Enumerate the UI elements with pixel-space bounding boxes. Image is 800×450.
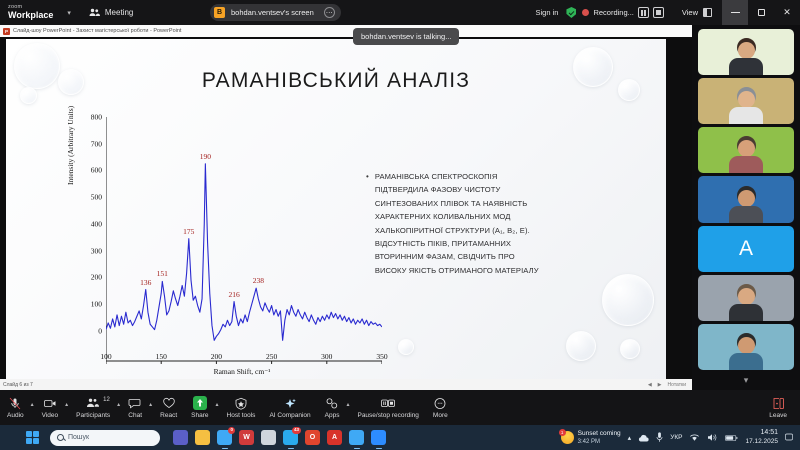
zoom-control-bar: Audio▴Video▴12Participants▴Chat▴ReactSha… — [0, 390, 800, 425]
notification-time: 3:42 PM — [578, 438, 621, 446]
app-running-indicator — [222, 448, 228, 450]
taskbar-app-chrome[interactable]: 0 — [217, 430, 232, 445]
bullet-line: СИНТЕЗОВАНИХ ПЛІВОК ТА НАЯВНІСТЬ — [375, 197, 539, 210]
participants-count-badge: 12 — [103, 397, 110, 403]
notification-badge: 1 — [559, 429, 566, 436]
chat-bubble-icon — [128, 397, 142, 410]
chart-y-ticks: 0100200300400500600700800 — [72, 117, 102, 347]
powerpoint-title-text: Слайд-шоу PowerPoint - Захист магістерсь… — [13, 28, 181, 34]
participant-tile-avatar[interactable]: A — [698, 226, 794, 272]
language-indicator[interactable]: УКР — [670, 434, 682, 441]
share-screen-icon — [193, 397, 207, 410]
chevron-down-icon[interactable]: ▾ — [744, 375, 749, 386]
pause-stop-icon — [381, 397, 395, 410]
icon-wrap — [43, 397, 57, 410]
system-tray: 1 Sunset coming 3:42 PM ▴ УКР — [561, 429, 794, 446]
chart-peak-label: 136 — [140, 278, 151, 287]
control-participants[interactable]: 12Participants — [69, 390, 117, 425]
icon-wrap — [283, 397, 297, 410]
bullet-line: ВТОРИННИМ ФАЗАМ, СВІДЧИТЬ ПРО — [375, 250, 539, 263]
powerpoint-status-bar: Слайд 6 из 7 ◀ ▶ Нотатки — [0, 379, 692, 390]
bullet-line: ХАЛЬКОПІРИТНОЇ СТРУКТУРИ (A₁, B₂, E). — [375, 224, 539, 237]
control-label: Audio — [7, 412, 24, 419]
icon-wrap — [771, 397, 785, 410]
talking-tooltip: bohdan.ventsev is talking... — [353, 28, 459, 45]
raman-spectrum-chart: Intensity (Arbitrary Units) 010020030040… — [62, 117, 382, 377]
microphone-muted-icon — [8, 397, 22, 410]
chevron-up-icon[interactable]: ▴ — [216, 401, 219, 408]
notifications-icon[interactable] — [785, 433, 794, 442]
participant-video-rail[interactable]: A▾ — [692, 25, 800, 390]
share-avatar-letter: B — [214, 7, 225, 18]
chart-peak-label: 151 — [157, 269, 168, 278]
participant-tile-2[interactable] — [698, 78, 794, 124]
decorative-bubble — [398, 339, 414, 355]
share-screen-icon — [193, 396, 207, 410]
icon-wrap — [433, 397, 447, 410]
taskbar-clock[interactable]: 14:51 17.12.2025 — [745, 429, 778, 446]
control-chat[interactable]: Chat — [121, 390, 149, 425]
slide-bullet-text: РАМАНІВСЬКА СПЕКТРОСКОПІЯ ПІДТВЕРДИЛА ФА… — [375, 170, 539, 277]
chevron-up-icon[interactable]: ▴ — [65, 401, 68, 408]
search-input[interactable]: Пошук — [50, 430, 160, 446]
taskbar-app-zoom[interactable] — [371, 430, 386, 445]
icon-wrap — [381, 397, 395, 410]
taskbar-app-telegram[interactable]: 43 — [283, 430, 298, 445]
leave-label: Leave — [769, 412, 787, 419]
app-running-indicator — [288, 448, 294, 450]
taskbar-app-acrobat[interactable]: A — [327, 430, 342, 445]
chevron-up-icon[interactable]: ▴ — [117, 401, 120, 408]
bullet-line: РАМАНІВСЬКА СПЕКТРОСКОПІЯ — [375, 170, 539, 183]
search-icon — [57, 434, 64, 441]
microphone-icon[interactable] — [656, 432, 663, 443]
chart-x-axis-label: Raman Shift, cm⁻¹ — [106, 367, 378, 376]
apps-icon — [325, 397, 339, 410]
app-badge: 43 — [292, 427, 301, 434]
camera-icon — [43, 397, 57, 410]
sign-in-button[interactable]: Sign in — [536, 8, 559, 17]
shield-icon — [234, 397, 248, 410]
pause-recording-button[interactable] — [638, 7, 649, 18]
taskbar-app-teams[interactable] — [173, 430, 188, 445]
bullet-line: ХАРАКТЕРНИХ КОЛИВАЛЬНИХ МОД — [375, 210, 539, 223]
window-controls: ✕ — [722, 0, 800, 25]
control-label: More — [433, 412, 448, 419]
chart-peak-label: 175 — [183, 227, 194, 236]
control-label: React — [160, 412, 177, 419]
presentation-slide: РАМАНІВСЬКИЙ АНАЛІЗ • РАМАНІВСЬКА СПЕКТР… — [6, 39, 666, 390]
windows-taskbar: Пошук 0W43OA 1 Sunset coming 3:42 PM ▴ — [0, 425, 800, 450]
chevron-up-icon[interactable]: ▴ — [628, 434, 632, 442]
control-label: Apps — [325, 412, 340, 419]
sparkle-icon — [283, 397, 297, 410]
avatar-letter: A — [739, 237, 753, 261]
decorative-bubble — [566, 331, 596, 361]
zoom-logo: zoom Workplace — [8, 5, 53, 20]
taskbar-app-chrome-2[interactable] — [349, 430, 364, 445]
icon-wrap — [234, 397, 248, 410]
wifi-icon[interactable] — [689, 433, 700, 442]
zoom-top-bar: zoom Workplace ▾ Meeting B bohdan.ventse… — [0, 0, 800, 25]
taskbar-app-explorer[interactable] — [195, 430, 210, 445]
recording-label: Recording... — [593, 8, 633, 17]
bullet-line: ВІДСУТНІСТЬ ПІКІВ, ПРИТАМАННИХ — [375, 237, 539, 250]
people-icon — [89, 8, 100, 17]
participant-silhouette — [729, 337, 763, 370]
chart-plot-area — [106, 117, 382, 367]
slide-counter: Слайд 6 из 7 — [3, 382, 33, 388]
control-host-tools[interactable]: Host tools — [220, 390, 263, 425]
chart-peak-label: 216 — [228, 290, 239, 299]
control-label: Pause/stop recording — [357, 412, 418, 419]
chart-y-tick-label: 0 — [98, 326, 102, 335]
control-ai-companion[interactable]: AI Companion — [262, 390, 317, 425]
participant-silhouette — [729, 190, 763, 223]
decorative-bubble — [602, 274, 654, 326]
control-label: Participants — [76, 412, 110, 419]
chart-y-tick-label: 100 — [91, 300, 102, 309]
icon-wrap — [8, 397, 22, 410]
leave-door-icon — [771, 397, 785, 410]
prev-slide-button[interactable]: ◀ — [648, 382, 652, 388]
chart-y-tick-label: 400 — [91, 219, 102, 228]
chart-peak-label: 238 — [253, 276, 264, 285]
taskbar-app-word-viewer[interactable]: W — [239, 430, 254, 445]
sunset-icon: 1 — [561, 431, 574, 444]
taskbar-app-opera[interactable]: O — [305, 430, 320, 445]
more-dots-icon — [433, 397, 447, 410]
more-dots-icon[interactable]: ⋯ — [324, 7, 335, 18]
security-shield-icon[interactable] — [566, 7, 576, 18]
icon-wrap — [193, 397, 207, 410]
participant-tile-4[interactable] — [698, 176, 794, 222]
workspace-chevron-down-icon[interactable]: ▾ — [67, 9, 71, 17]
participant-tile-6[interactable] — [698, 324, 794, 370]
bullet-line: ПІДТВЕРДИЛА ФАЗОВУ ЧИСТОТУ — [375, 183, 539, 196]
control-label: AI Companion — [269, 412, 310, 419]
control-more[interactable]: More — [426, 390, 455, 425]
participant-silhouette — [729, 288, 763, 321]
chart-y-tick-label: 700 — [91, 139, 102, 148]
chevron-up-icon[interactable]: ▴ — [346, 401, 349, 408]
icon-wrap — [325, 397, 339, 410]
control-apps[interactable]: Apps — [318, 390, 347, 425]
zoom-logo-big: Workplace — [8, 11, 53, 20]
screen-share-indicator[interactable]: B bohdan.ventsev's screen ⋯ — [210, 4, 341, 21]
top-bar-right: Sign in Recording... View ✕ — [536, 0, 800, 25]
control-label: Share — [191, 412, 208, 419]
share-indicator-label: bohdan.ventsev's screen — [231, 8, 314, 17]
decorative-bubble — [620, 339, 640, 359]
control-label: Video — [42, 412, 59, 419]
restore-button[interactable] — [748, 0, 774, 25]
control-audio[interactable]: Audio — [0, 390, 31, 425]
control-recording[interactable]: Pause/stop recording — [350, 390, 425, 425]
control-react[interactable]: React — [153, 390, 184, 425]
chart-y-tick-label: 300 — [91, 246, 102, 255]
chart-y-tick-label: 500 — [91, 193, 102, 202]
control-leave[interactable]: Leave — [762, 390, 794, 425]
chart-y-tick-label: 600 — [91, 166, 102, 175]
notes-button[interactable]: Нотатки — [668, 382, 686, 388]
onedrive-icon[interactable] — [638, 434, 649, 442]
screen-root: zoom Workplace ▾ Meeting B bohdan.ventse… — [0, 0, 800, 450]
chevron-up-icon[interactable]: ▴ — [31, 401, 34, 408]
meeting-tab[interactable]: Meeting — [89, 8, 133, 17]
status-bar-right: ◀ ▶ Нотатки — [648, 382, 692, 388]
meeting-tab-label: Meeting — [105, 8, 133, 17]
bullet-line: ВИСОКУ ЯКІСТЬ ОТРИМАНОГО МАТЕРІАЛУ — [375, 264, 539, 277]
participant-tile-5[interactable] — [698, 275, 794, 321]
minimize-button[interactable] — [722, 0, 748, 25]
notification-toast[interactable]: 1 Sunset coming 3:42 PM — [561, 430, 621, 446]
icon-wrap — [162, 397, 176, 410]
view-layout-icon[interactable] — [703, 8, 712, 17]
notification-text: Sunset coming 3:42 PM — [578, 430, 621, 446]
app-badge: 0 — [228, 427, 235, 434]
participant-silhouette — [729, 140, 763, 173]
close-button[interactable]: ✕ — [774, 0, 800, 25]
participant-tile-1[interactable] — [698, 29, 794, 75]
clock-time: 14:51 — [745, 429, 778, 438]
participants-icon — [86, 397, 100, 410]
taskbar-app-save[interactable] — [261, 430, 276, 445]
participant-tile-3[interactable] — [698, 127, 794, 173]
chart-y-tick-label: 800 — [91, 113, 102, 122]
clock-date: 17.12.2025 — [745, 438, 778, 447]
recording-status: Recording... — [582, 7, 663, 18]
powerpoint-icon: P — [3, 28, 10, 35]
recording-dot-icon — [582, 9, 589, 16]
view-button-label[interactable]: View — [682, 8, 698, 17]
shared-screen-region[interactable]: P Слайд-шоу PowerPoint - Захист магістер… — [0, 25, 692, 390]
participant-silhouette — [729, 91, 763, 124]
slide-bullet-block: • РАМАНІВСЬКА СПЕКТРОСКОПІЯ ПІДТВЕРДИЛА … — [366, 170, 618, 277]
control-label: Chat — [128, 412, 142, 419]
volume-icon[interactable] — [707, 433, 718, 442]
taskbar-apps: 0W43OA — [173, 430, 386, 445]
chart-y-tick-label: 200 — [91, 273, 102, 282]
heart-icon — [162, 397, 176, 410]
notification-title: Sunset coming — [578, 430, 621, 438]
windows-start-icon[interactable] — [26, 431, 39, 444]
chart-peak-label: 190 — [200, 152, 211, 161]
battery-icon[interactable] — [725, 434, 738, 442]
powerpoint-title-bar: P Слайд-шоу PowerPoint - Захист магістер… — [0, 25, 692, 37]
app-running-indicator — [376, 448, 382, 450]
chevron-up-icon[interactable]: ▴ — [149, 401, 152, 408]
chart-series-line — [106, 164, 382, 341]
icon-wrap — [128, 397, 142, 410]
participant-silhouette — [729, 42, 763, 75]
app-running-indicator — [354, 448, 360, 450]
next-slide-button[interactable]: ▶ — [658, 382, 662, 388]
stop-recording-button[interactable] — [653, 7, 664, 18]
control-share[interactable]: Share — [184, 390, 215, 425]
control-video[interactable]: Video — [35, 390, 66, 425]
control-label: Host tools — [227, 412, 256, 419]
slide-title: РАМАНІВСЬКИЙ АНАЛІЗ — [6, 69, 666, 93]
icon-wrap: 12 — [86, 397, 100, 410]
search-placeholder: Пошук — [68, 434, 89, 441]
